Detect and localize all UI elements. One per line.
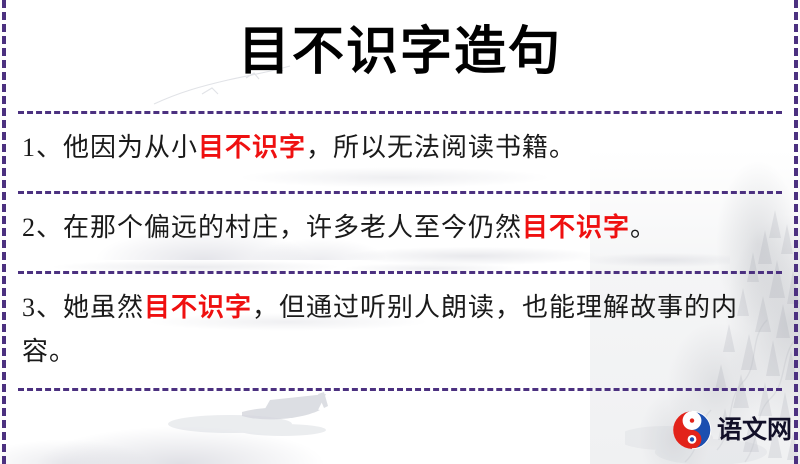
divider-above-sentence-1 [18, 111, 782, 114]
mountain-watermark-bottom [0, 392, 430, 464]
site-logo[interactable]: 语文网 [672, 408, 790, 452]
sentence-3-index: 3、 [22, 293, 63, 322]
sentence-2-prefix: 在那个偏远的村庄，许多老人至今仍然 [63, 213, 522, 242]
sentence-1-index: 1、 [22, 133, 63, 162]
sentence-item-2: 2、在那个偏远的村庄，许多老人至今仍然目不识字。 [22, 206, 770, 250]
sentence-1-prefix: 他因为从小 [63, 133, 198, 162]
site-logo-text: 语文网 [717, 416, 792, 444]
divider-between-sentence-1-2 [18, 191, 782, 194]
sentence-3-prefix: 她虽然 [63, 293, 144, 322]
yinyang-fish-logo-icon [672, 410, 712, 450]
boat-watermark [150, 392, 390, 442]
sentence-3-keyword: 目不识字 [144, 293, 252, 322]
sentence-2-suffix: 。 [630, 213, 657, 242]
divider-below-sentence-3 [18, 388, 782, 391]
sentence-worksheet-page: 目不识字造句 1、他因为从小目不识字，所以无法阅读书籍。 2、在那个偏远的村庄，… [0, 0, 800, 464]
divider-between-sentence-2-3 [18, 271, 782, 274]
sentence-item-3: 3、她虽然目不识字，但通过听别人朗读，也能理解故事的内容。 [22, 286, 770, 374]
page-title: 目不识字造句 [0, 18, 800, 88]
sentence-item-1: 1、他因为从小目不识字，所以无法阅读书籍。 [22, 126, 770, 170]
sentence-2-index: 2、 [22, 213, 63, 242]
sentence-1-keyword: 目不识字 [198, 133, 306, 162]
cloud-watermark-b [40, 252, 560, 282]
sentence-2-keyword: 目不识字 [522, 213, 630, 242]
sentence-1-suffix: ，所以无法阅读书籍。 [306, 133, 576, 162]
